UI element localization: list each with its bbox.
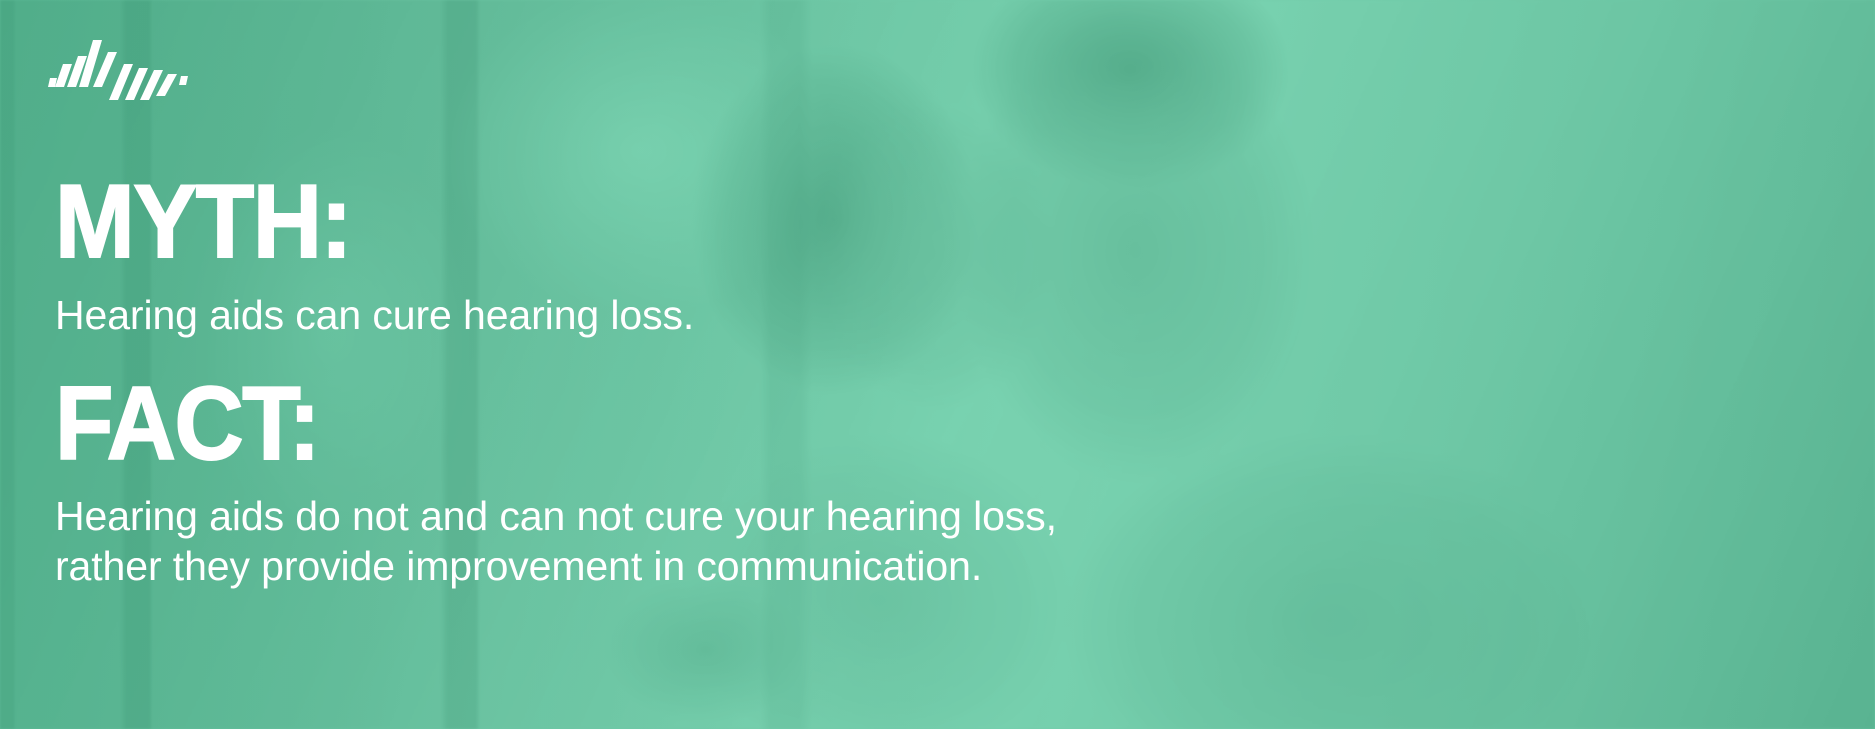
fact-text-line-2: rather they provide improvement in commu… xyxy=(55,541,1355,591)
myth-fact-banner: MYTH: Hearing aids can cure hearing loss… xyxy=(0,0,1875,729)
myth-heading: MYTH: xyxy=(55,176,1251,270)
fact-heading: FACT: xyxy=(55,378,1251,472)
myth-text: Hearing aids can cure hearing loss. xyxy=(55,290,1355,340)
fact-text-line-1: Hearing aids do not and can not cure you… xyxy=(55,493,1057,539)
copy-block: MYTH: Hearing aids can cure hearing loss… xyxy=(55,176,1355,591)
brand-logo[interactable] xyxy=(48,38,188,100)
sound-wave-icon xyxy=(48,38,188,100)
fact-text: Hearing aids do not and can not cure you… xyxy=(55,491,1355,591)
